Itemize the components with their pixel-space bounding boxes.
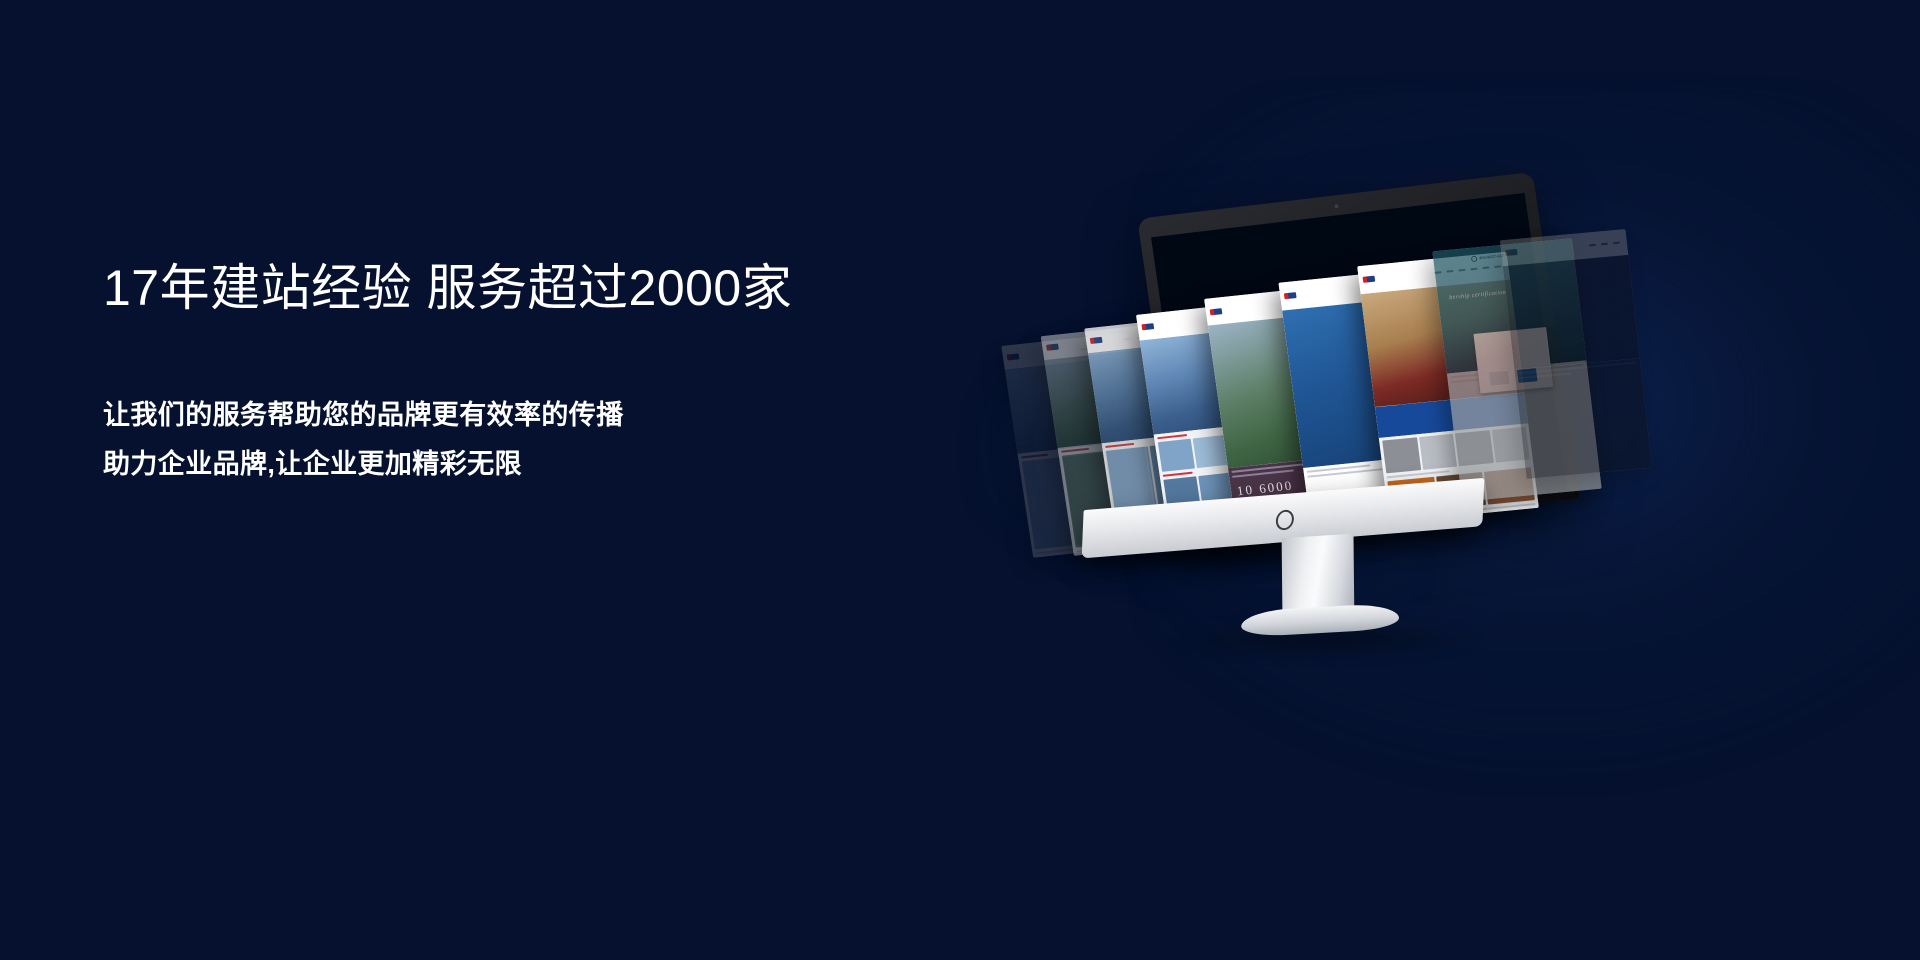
subtitle-line-1: 让我们的服务帮助您的品牌更有效率的传播 bbox=[103, 391, 923, 440]
monitor-screen bbox=[1151, 193, 1568, 536]
hero-copy: 17年建站经验 服务超过2000家 让我们的服务帮助您的品牌更有效率的传播 助力… bbox=[103, 258, 923, 489]
hero-banner: 17年建站经验 服务超过2000家 让我们的服务帮助您的品牌更有效率的传播 助力… bbox=[0, 0, 1920, 960]
page-title: 17年建站经验 服务超过2000家 bbox=[103, 258, 923, 319]
hero-subtitle: 让我们的服务帮助您的品牌更有效率的传播 助力企业品牌,让企业更加精彩无限 bbox=[103, 391, 923, 489]
monitor-showcase: 10 6000 bbox=[1005, 170, 1565, 810]
subtitle-line-2: 助力企业品牌,让企业更加精彩无限 bbox=[103, 440, 923, 489]
webcam-icon bbox=[1334, 204, 1339, 208]
brand-logo-icon bbox=[1275, 510, 1295, 531]
